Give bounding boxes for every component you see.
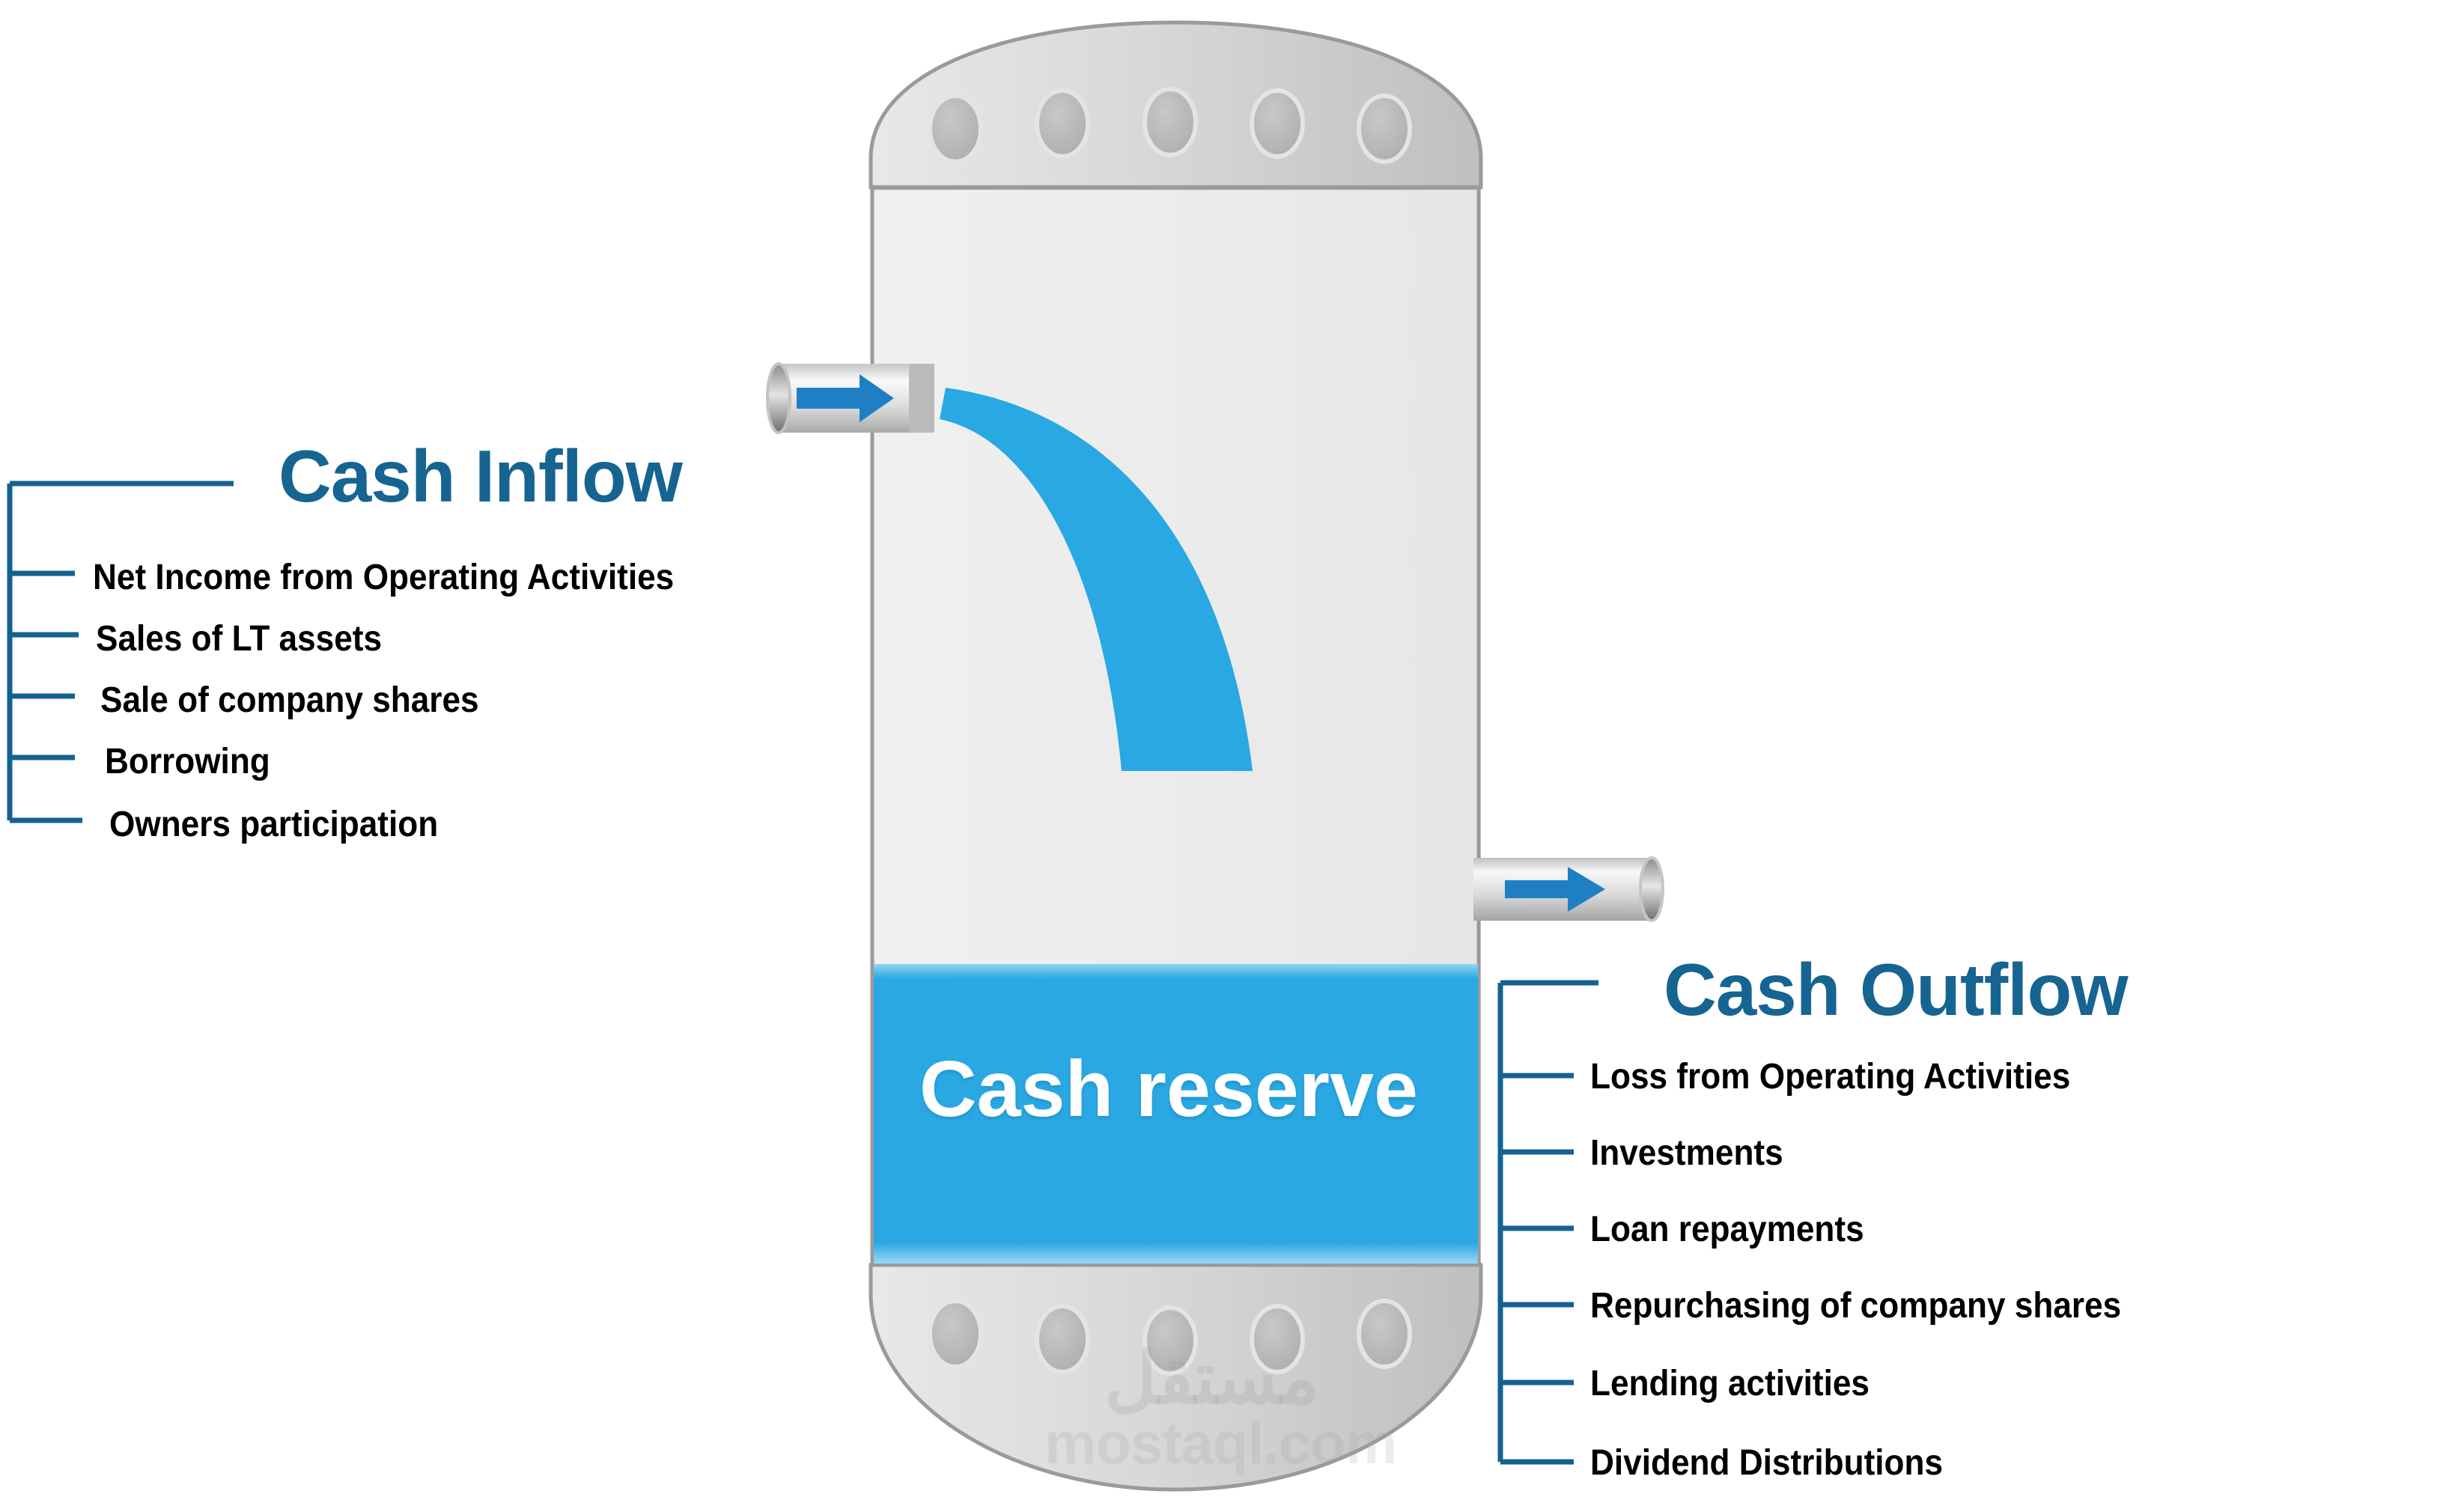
outflow-item: Lending activities: [1590, 1363, 1870, 1404]
inflow-item: Net Income from Operating Activities: [93, 557, 674, 598]
bolt-icon: [1359, 96, 1410, 162]
cash-tank: [871, 0, 1481, 1512]
bolt-icon: [1145, 1308, 1196, 1374]
diagram-canvas: Cash reserve مستقل mostaql.com Cash Infl…: [0, 0, 2446, 1512]
outflow-item: Loan repayments: [1590, 1209, 1864, 1250]
tank-bottom-cap: [871, 1265, 1481, 1490]
pipe-flange: [909, 364, 934, 433]
outflow-item: Investments: [1590, 1133, 1783, 1174]
inflow-item: Sales of LT assets: [96, 618, 382, 659]
pipe-opening: [1640, 858, 1663, 921]
bolt-icon: [1252, 1306, 1303, 1372]
bolt-icon: [930, 1301, 981, 1367]
bolt-icon: [1359, 1301, 1410, 1367]
cash-outflow-title: Cash Outflow: [1664, 953, 2128, 1026]
inflow-item: Sale of company shares: [100, 680, 479, 721]
outlet-pipe-graphic: [1473, 853, 1672, 925]
bolt-icon: [1252, 91, 1303, 156]
cash-outflow-group: Cash Outflow Loss from Operating Activit…: [1490, 947, 2446, 1486]
bolt-icon: [1037, 1306, 1088, 1372]
cash-inflow-group: Cash Inflow Net Income from Operating Ac…: [0, 434, 868, 883]
tank-vessel-graphic: [871, 0, 1481, 1512]
cash-inflow-bracket: [0, 434, 97, 883]
cash-outflow-bracket: [1490, 947, 1591, 1486]
inflow-item: Borrowing: [105, 741, 270, 782]
inflow-item: Owners participation: [109, 804, 438, 845]
bolt-icon: [1145, 89, 1196, 155]
cash-reserve-label: Cash reserve: [919, 1044, 1418, 1135]
outflow-item: Repurchasing of company shares: [1590, 1285, 2121, 1326]
cash-inflow-title: Cash Inflow: [279, 439, 682, 513]
inlet-pipe-graphic: [762, 358, 949, 439]
bolt-icon: [930, 96, 981, 162]
outflow-item: Dividend Distributions: [1590, 1442, 1943, 1484]
inlet-pipe: [762, 358, 949, 439]
pipe-opening: [767, 364, 790, 433]
bolt-icon: [1037, 91, 1088, 156]
outlet-pipe: [1473, 853, 1672, 925]
outflow-item: Loss from Operating Activities: [1590, 1056, 2070, 1097]
